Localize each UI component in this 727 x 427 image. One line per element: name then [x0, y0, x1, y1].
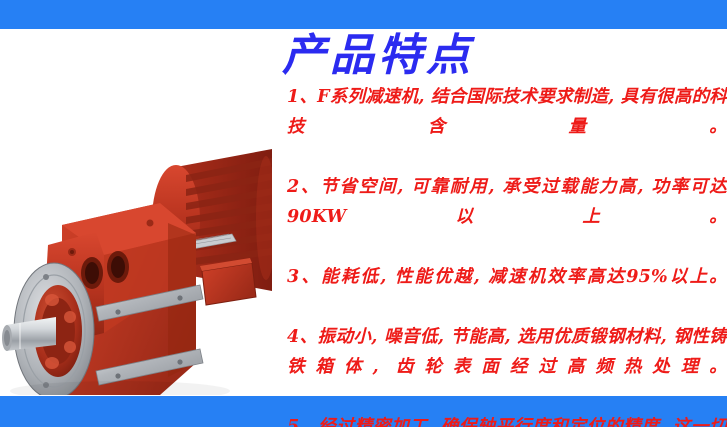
feature-item-3: 3、能耗低, 性能优越, 减速机效率高达95%以上。 [278, 262, 727, 322]
feature-item-2: 2、节省空间, 可靠耐用, 承受过载能力高, 功率可达90KW以上。 [278, 172, 727, 262]
feature-item-5: 5、经过精密加工, 确保轴平行度和定位的精度, 这一切构成了齿轮传动总成的减速机… [278, 412, 727, 427]
product-feature-banner: 产品特点 1、F系列减速机, 结合国际技术要求制造, 具有很高的科技含量。 2、… [0, 0, 727, 427]
motor-terminal-box [200, 258, 256, 305]
page-title: 产品特点 [282, 32, 474, 80]
top-accent-bar [0, 0, 727, 29]
feature-item-4: 4、振动小, 噪音低, 节能高, 选用优质锻钢材料, 钢性铸铁箱体, 齿轮表面经… [278, 322, 727, 412]
feature-text-column: 产品特点 1、F系列减速机, 结合国际技术要求制造, 具有很高的科技含量。 2、… [278, 30, 727, 396]
feature-list: 1、F系列减速机, 结合国际技术要求制造, 具有很高的科技含量。 2、节省空间,… [278, 82, 727, 427]
feature-item-1: 1、F系列减速机, 结合国际技术要求制造, 具有很高的科技含量。 [278, 82, 727, 172]
output-flange-and-shaft [2, 263, 94, 395]
product-photo-gear-reducer [0, 95, 272, 395]
gear-reducer-illustration [0, 95, 272, 395]
